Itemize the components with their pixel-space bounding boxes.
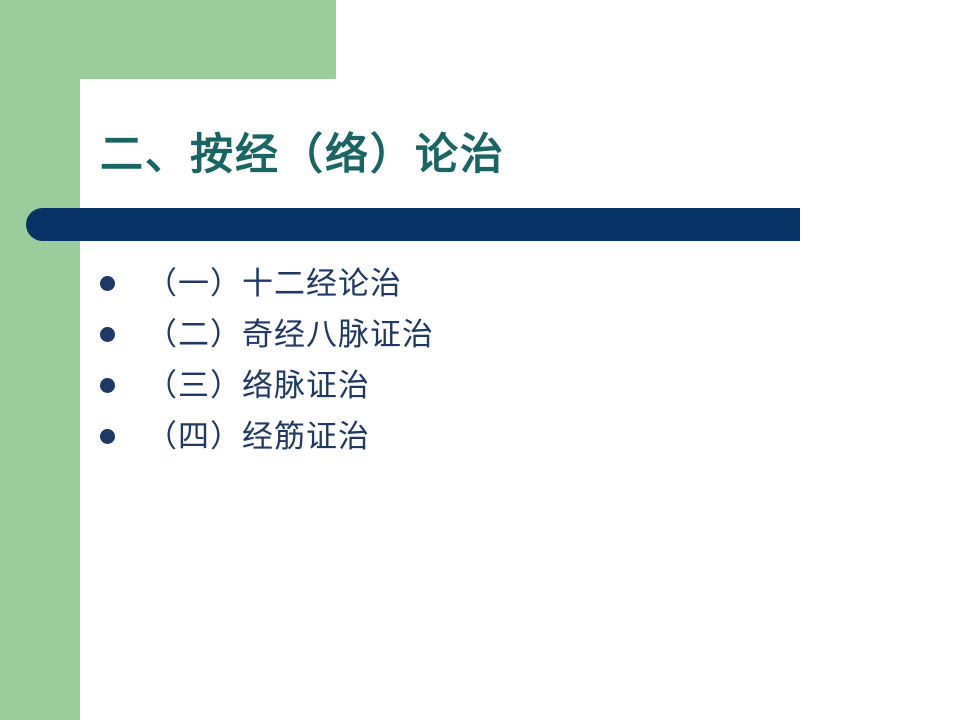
list-item[interactable]: （三）络脉证治 <box>100 360 880 411</box>
list-item[interactable]: （二）奇经八脉证治 <box>100 309 880 360</box>
bullet-list: （一）十二经论治 （二）奇经八脉证治 （三）络脉证治 （四）经筋证治 <box>100 258 880 462</box>
green-side-strip <box>0 0 80 720</box>
list-item[interactable]: （四）经筋证治 <box>100 411 880 462</box>
bullet-dot-icon <box>100 327 115 342</box>
list-item-label: （四）经筋证治 <box>146 417 880 457</box>
title-accent-bar <box>26 208 800 241</box>
bullet-dot-icon <box>100 429 115 444</box>
bullet-dot-icon <box>100 378 115 393</box>
list-item-label: （三）络脉证治 <box>146 366 880 406</box>
list-item[interactable]: （一）十二经论治 <box>100 258 880 309</box>
slide-title: 二、按经（络）论治 <box>100 128 860 182</box>
list-item-label: （二）奇经八脉证治 <box>146 315 880 355</box>
bullet-dot-icon <box>100 276 115 291</box>
presentation-slide: 二、按经（络）论治 （一）十二经论治 （二）奇经八脉证治 （三）络脉证治 （四）… <box>0 0 960 720</box>
list-item-label: （一）十二经论治 <box>146 264 880 304</box>
